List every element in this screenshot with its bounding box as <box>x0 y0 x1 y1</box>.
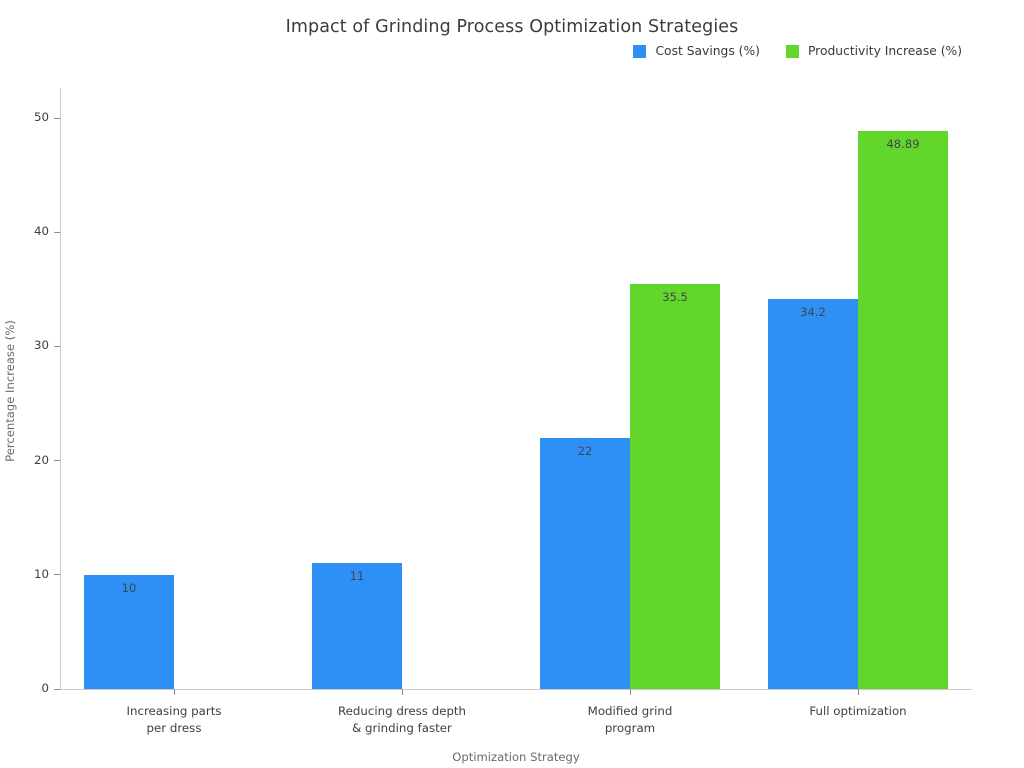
bar[interactable]: 34.2 <box>768 299 858 689</box>
x-tick-mark <box>858 689 859 695</box>
chart-legend: Cost Savings (%) Productivity Increase (… <box>633 44 962 58</box>
y-tick-mark <box>54 689 60 690</box>
legend-swatch-productivity-increase <box>786 45 799 58</box>
bar-value-label: 34.2 <box>768 305 858 319</box>
y-tick-mark <box>54 574 60 575</box>
y-tick-label: 20 <box>34 453 49 467</box>
plot-area: Percentage Increase (%) Optimization Str… <box>60 93 972 689</box>
legend-swatch-cost-savings <box>633 45 646 58</box>
y-tick-mark <box>54 346 60 347</box>
bar-chart: Impact of Grinding Process Optimization … <box>0 0 1024 768</box>
x-tick-label: Full optimization <box>748 703 968 720</box>
x-tick-label: Modified grindprogram <box>520 703 740 737</box>
legend-label-cost-savings: Cost Savings (%) <box>655 44 759 58</box>
bar[interactable]: 35.5 <box>630 284 720 689</box>
y-tick-label: 50 <box>34 110 49 124</box>
y-axis-title: Percentage Increase (%) <box>3 320 17 462</box>
y-tick-mark <box>54 118 60 119</box>
y-axis-line <box>60 88 61 689</box>
y-tick-label: 30 <box>34 338 49 352</box>
legend-item-cost-savings[interactable]: Cost Savings (%) <box>633 44 759 58</box>
x-tick-mark <box>630 689 631 695</box>
bar-value-label: 48.89 <box>858 137 948 151</box>
bar[interactable]: 22 <box>540 438 630 689</box>
chart-title: Impact of Grinding Process Optimization … <box>0 17 1024 37</box>
x-tick-mark <box>402 689 403 695</box>
x-tick-label: Increasing partsper dress <box>64 703 284 737</box>
bar-value-label: 22 <box>540 444 630 458</box>
y-tick-label: 0 <box>41 681 49 695</box>
bar[interactable]: 11 <box>312 563 402 689</box>
x-tick-label: Reducing dress depth& grinding faster <box>292 703 512 737</box>
y-tick-mark <box>54 232 60 233</box>
y-tick-label: 40 <box>34 224 49 238</box>
x-tick-mark <box>174 689 175 695</box>
legend-label-productivity-increase: Productivity Increase (%) <box>808 44 962 58</box>
y-tick-label: 10 <box>34 567 49 581</box>
bar-value-label: 11 <box>312 569 402 583</box>
x-axis-title: Optimization Strategy <box>60 750 972 764</box>
bar-value-label: 35.5 <box>630 290 720 304</box>
x-axis-line <box>60 689 972 690</box>
legend-item-productivity-increase[interactable]: Productivity Increase (%) <box>786 44 962 58</box>
bar[interactable]: 48.89 <box>858 131 948 689</box>
bar[interactable]: 10 <box>84 575 174 689</box>
y-tick-mark <box>54 460 60 461</box>
bar-value-label: 10 <box>84 581 174 595</box>
